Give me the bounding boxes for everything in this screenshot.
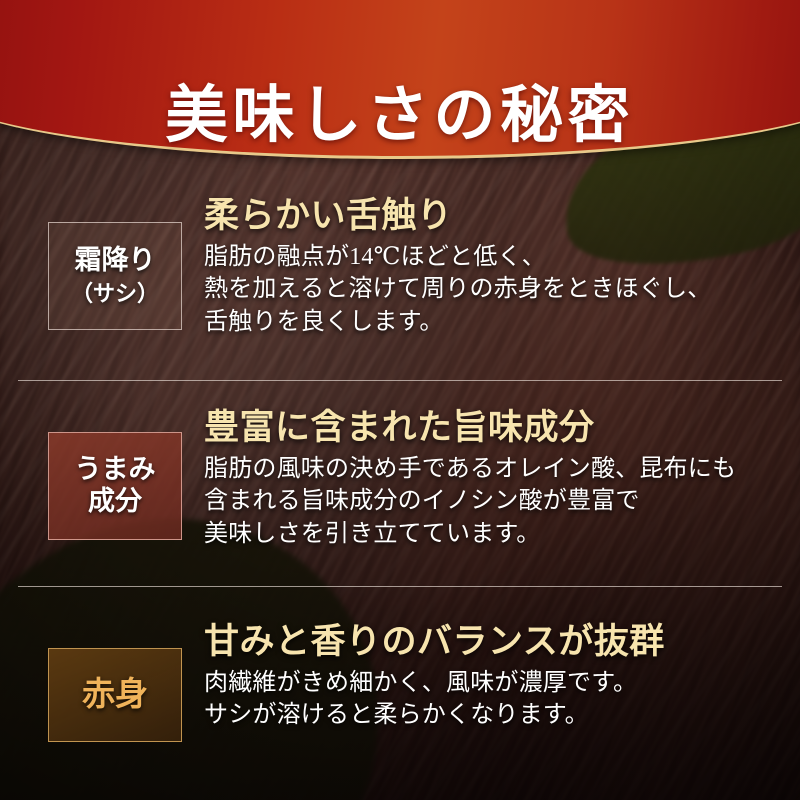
body-line: サシが溶けると柔らかくなります。 — [204, 699, 786, 731]
body-line: 舌触りを良くします。 — [204, 306, 786, 338]
feature-section-shimofuri: 霜降り （サシ） 柔らかい舌触り 脂肪の融点が14℃ほどと低く、 熱を加えると溶… — [0, 196, 800, 338]
body-line: 脂肪の風味の決め手であるオレイン酸、昆布にも — [204, 453, 786, 485]
feature-content: 豊富に含まれた旨味成分 脂肪の風味の決め手であるオレイン酸、昆布にも 含まれる旨… — [182, 408, 800, 550]
page-title: 美味しさの秘密 — [0, 64, 800, 154]
section-divider — [18, 586, 782, 587]
body-line: 美味しさを引き立てています。 — [204, 518, 786, 550]
feature-heading: 甘みと香りのバランスが抜群 — [204, 622, 786, 661]
body-line: 肉繊維がきめ細かく、風味が濃厚です。 — [204, 667, 786, 699]
feature-body: 肉繊維がきめ細かく、風味が濃厚です。 サシが溶けると柔らかくなります。 — [204, 667, 786, 731]
body-line: 含まれる旨味成分のイノシン酸が豊富で — [204, 485, 786, 517]
feature-body: 脂肪の風味の決め手であるオレイン酸、昆布にも 含まれる旨味成分のイノシン酸が豊富… — [204, 453, 786, 549]
feature-content: 柔らかい舌触り 脂肪の融点が14℃ほどと低く、 熱を加えると溶けて周りの赤身をと… — [182, 196, 800, 338]
feature-heading: 豊富に含まれた旨味成分 — [204, 408, 786, 447]
badge-label-line: 霜降り — [75, 245, 156, 277]
badge-label-line: （サシ） — [71, 281, 159, 307]
badge-umami-seibun: うまみ 成分 — [48, 432, 182, 540]
body-line: 脂肪の融点が14℃ほどと低く、 — [204, 241, 786, 273]
section-divider — [18, 380, 782, 381]
feature-body: 脂肪の融点が14℃ほどと低く、 熱を加えると溶けて周りの赤身をときほぐし、 舌触… — [204, 241, 786, 337]
badge-label-line: 赤身 — [82, 676, 148, 715]
promo-banner: 美味しさの秘密 霜降り （サシ） 柔らかい舌触り 脂肪の融点が14℃ほどと低く、… — [0, 0, 800, 800]
badge-shimofuri: 霜降り （サシ） — [48, 222, 182, 330]
feature-content: 甘みと香りのバランスが抜群 肉繊維がきめ細かく、風味が濃厚です。 サシが溶けると… — [182, 622, 800, 732]
badge-label-line: うまみ — [75, 454, 156, 486]
badge-label-line: 成分 — [88, 486, 142, 518]
body-line: 熱を加えると溶けて周りの赤身をときほぐし、 — [204, 273, 786, 305]
feature-heading: 柔らかい舌触り — [204, 196, 786, 235]
feature-section-akami: 赤身 甘みと香りのバランスが抜群 肉繊維がきめ細かく、風味が濃厚です。 サシが溶… — [0, 622, 800, 742]
feature-section-umami: うまみ 成分 豊富に含まれた旨味成分 脂肪の風味の決め手であるオレイン酸、昆布に… — [0, 408, 800, 550]
badge-akami: 赤身 — [48, 648, 182, 742]
